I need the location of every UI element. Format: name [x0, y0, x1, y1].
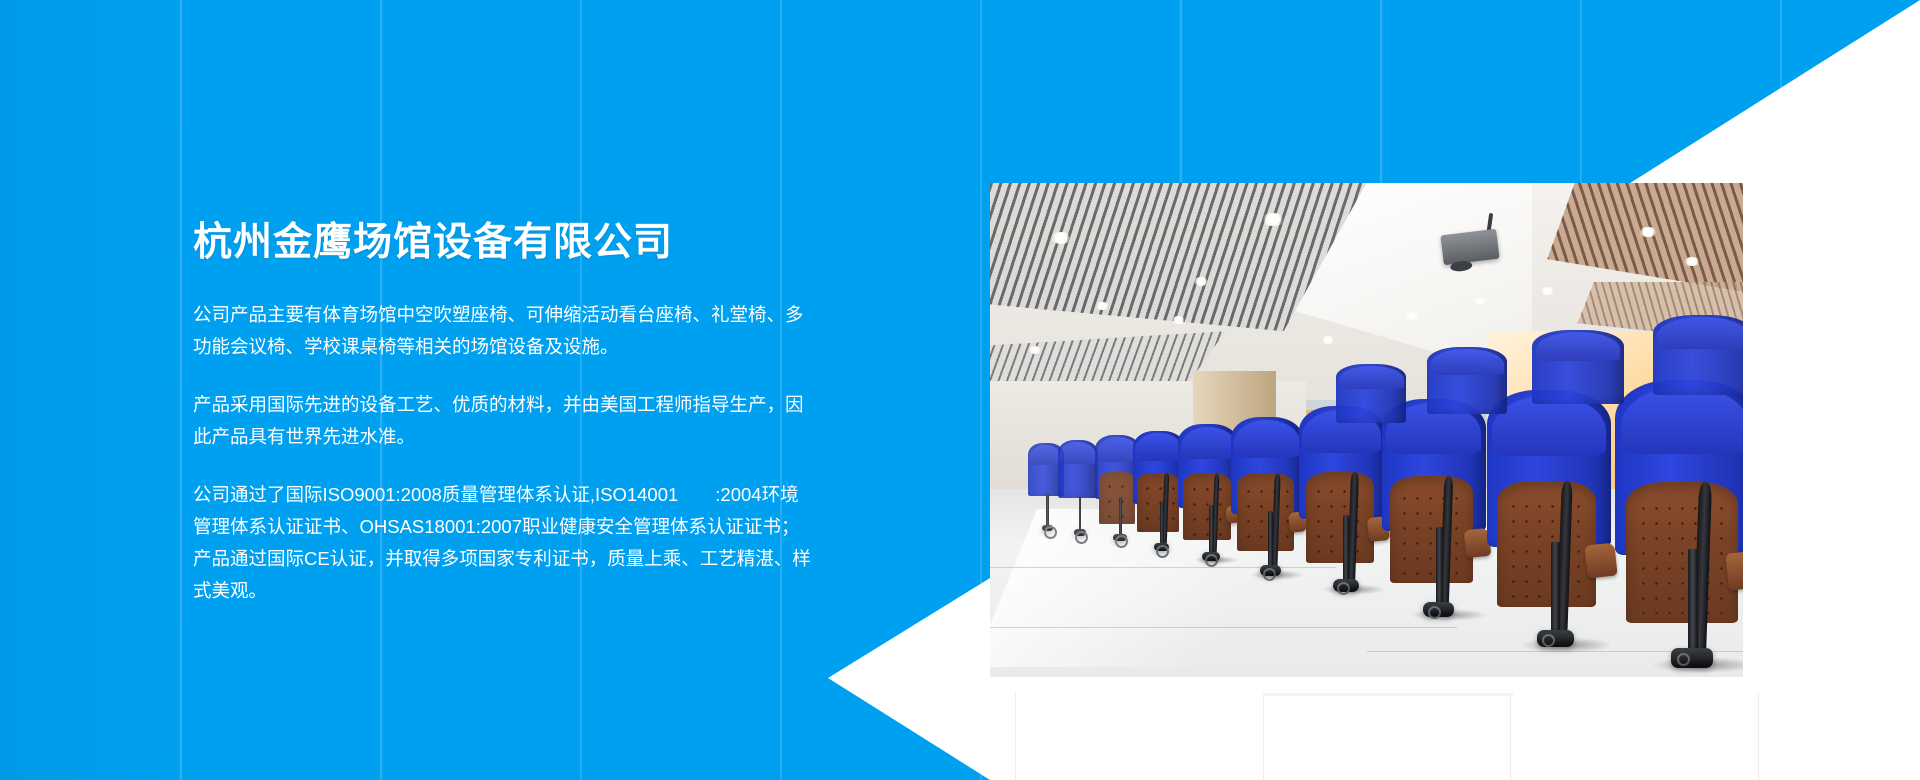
seat-wood-panel — [1306, 472, 1375, 563]
seat-headrest — [1234, 420, 1300, 457]
seat-wood-panel — [1183, 473, 1231, 540]
seat-headrest — [1430, 349, 1504, 375]
seat — [1231, 417, 1303, 573]
seat-leg — [1551, 542, 1560, 643]
intro-copy-block: 杭州金鹰场馆设备有限公司 公司产品主要有体育场馆中空吹塑座椅、可伸缩活动看台座椅… — [193, 222, 813, 607]
background-sheen — [0, 0, 190, 780]
seat-back-row — [1532, 330, 1624, 450]
seat-foot — [1074, 529, 1086, 536]
seat-foot — [1113, 534, 1127, 541]
auditorium-seating-photo — [990, 183, 1743, 677]
downlight — [1193, 277, 1209, 286]
seat-shadow — [1519, 637, 1613, 652]
seat-leg — [1688, 549, 1698, 662]
downlight — [1683, 257, 1701, 266]
seat-shadow — [1250, 570, 1305, 579]
seat-leg — [1343, 515, 1349, 588]
banner-stage: 杭州金鹰场馆设备有限公司 公司产品主要有体育场馆中空吹塑座椅、可伸缩活动看台座椅… — [0, 0, 1920, 780]
grid-line-1 — [1015, 693, 1016, 780]
downlight — [1472, 297, 1487, 305]
seat-wood-panel — [1626, 482, 1738, 623]
intro-paragraph-certifications: 公司通过了国际ISO9001:2008质量管理体系认证,ISO14001 :20… — [193, 479, 813, 607]
seat-wood-panel — [1497, 481, 1596, 607]
seat-leg — [1046, 494, 1049, 528]
seat-armrest — [1585, 543, 1618, 579]
seat-armrest — [1725, 551, 1743, 591]
seat-wood-panel — [1390, 476, 1473, 583]
downlight — [1540, 287, 1555, 295]
downlight — [1028, 346, 1042, 354]
grid-line-2 — [1263, 693, 1264, 780]
intro-paragraph-products: 公司产品主要有体育场馆中空吹塑座椅、可伸缩活动看台座椅、礼堂椅、多功能会议椅、学… — [193, 299, 813, 363]
seat-headrest — [1135, 433, 1183, 461]
seat-foot — [1042, 525, 1053, 531]
seat-headrest — [1657, 317, 1743, 348]
photo-canvas — [990, 183, 1743, 677]
seat-headrest — [1059, 442, 1096, 465]
grid-line-4 — [1758, 693, 1759, 780]
seat-headrest — [1536, 332, 1621, 361]
seat-leg — [1268, 511, 1273, 573]
company-title: 杭州金鹰场馆设备有限公司 — [193, 222, 813, 265]
seat-shadow — [1321, 584, 1386, 595]
seat-back-row — [1653, 315, 1743, 445]
seat — [1178, 424, 1238, 558]
seat-shadow — [1651, 657, 1743, 674]
grid-line-3 — [1510, 693, 1511, 780]
seat — [1058, 440, 1098, 534]
seat-headrest — [1339, 366, 1403, 389]
seat-back-row — [1427, 347, 1507, 455]
downlight — [1261, 213, 1285, 226]
grid-line-top-rule — [1263, 693, 1513, 696]
seat-headrest — [1181, 427, 1236, 459]
seat-back-row — [1336, 364, 1406, 460]
footer-grid-lines — [1015, 693, 1759, 780]
intro-paragraph-quality: 产品采用国际先进的设备工艺、优质的材料，并由美国工程师指导生产，因此产品具有世界… — [193, 389, 813, 453]
seat-leg — [1160, 501, 1164, 548]
seat-shadow — [1409, 609, 1488, 622]
seat-leg — [1436, 527, 1443, 613]
downlight — [1095, 302, 1110, 310]
seat-wood-panel — [1099, 472, 1135, 524]
floor-tile-line — [990, 627, 1457, 628]
seat-wood-panel — [1237, 473, 1295, 551]
seat-wood-panel — [1137, 473, 1179, 532]
seat-leg — [1119, 497, 1122, 539]
seat-foot — [1154, 543, 1170, 551]
seat-leg — [1209, 505, 1213, 559]
seat — [1133, 431, 1185, 549]
